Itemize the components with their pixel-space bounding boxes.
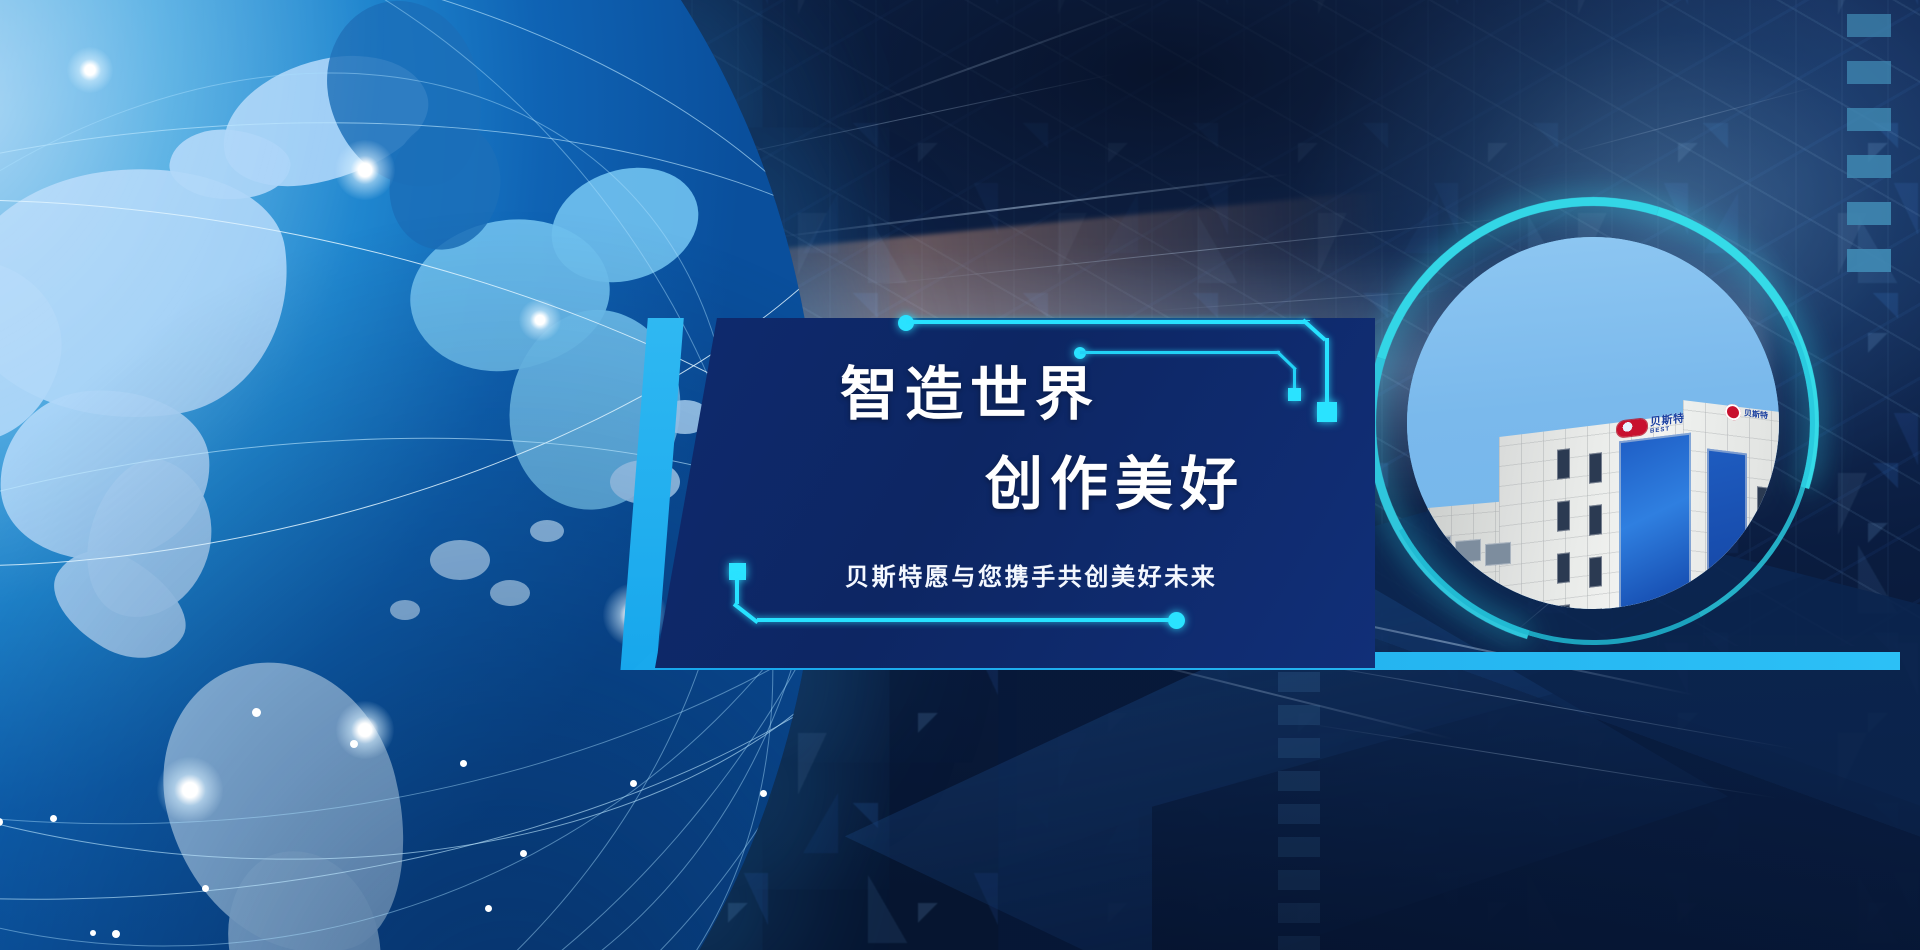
center-column-bar — [1278, 672, 1320, 692]
center-column-bar — [1278, 738, 1320, 758]
center-column-bar — [1278, 771, 1320, 791]
center-column-bar — [1278, 936, 1320, 950]
center-bar-column — [0, 0, 1920, 950]
center-column-bar — [1278, 804, 1320, 824]
center-column-bar — [1278, 705, 1320, 725]
center-column-bar — [1278, 870, 1320, 890]
center-column-bar — [1278, 903, 1320, 923]
hero-banner: 贝斯特 BEST 贝斯特 热烈欢迎领导莅临指导 智造世界 创作美好 贝斯特愿与您… — [0, 0, 1920, 950]
center-column-bar — [1278, 837, 1320, 857]
